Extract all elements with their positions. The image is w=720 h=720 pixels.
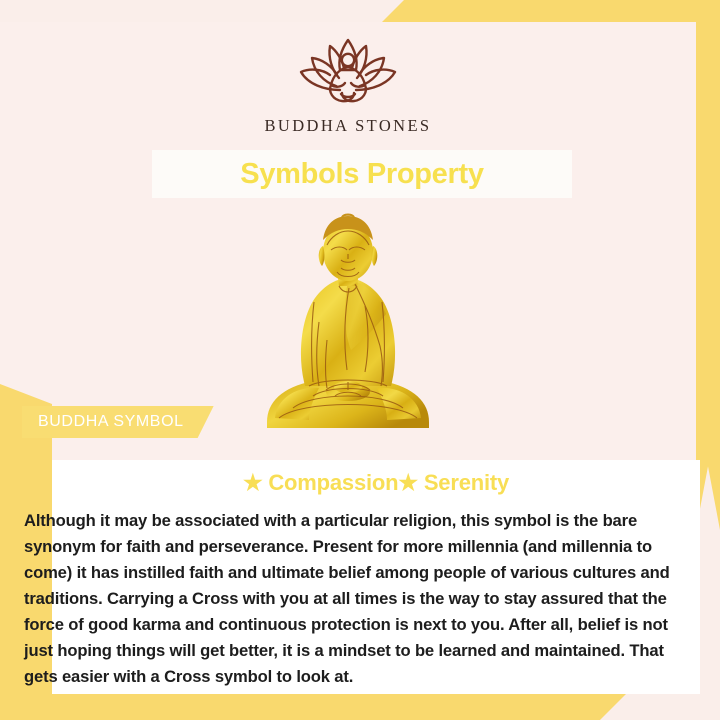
description-paragraph: Although it may be associated with a par… [24, 508, 688, 690]
lotus-meditation-icon [284, 32, 412, 110]
brand-wordmark: BUDDHA STONES [0, 116, 696, 136]
attributes-subheading: ★ Compassion★ Serenity [70, 470, 682, 496]
buddha-statue-image [0, 202, 696, 432]
infographic-poster: BUDDHA STONES Symbols Property [0, 0, 720, 720]
brand-logo-block: BUDDHA STONES [0, 32, 696, 136]
page-title: Symbols Property [240, 158, 483, 191]
title-banner: Symbols Property [152, 150, 572, 198]
symbol-category-tag: BUDDHA SYMBOL [22, 406, 214, 438]
description-panel: ★ Compassion★ Serenity Although it may b… [52, 460, 700, 694]
decor-top-yellow-band [404, 0, 720, 22]
decor-right-yellow-strip [696, 0, 720, 530]
decor-bottom-yellow-band [0, 694, 600, 720]
symbol-category-label: BUDDHA SYMBOL [38, 413, 184, 431]
golden-seated-buddha-illustration [253, 210, 443, 432]
hero-section: BUDDHA STONES Symbols Property [0, 22, 696, 460]
